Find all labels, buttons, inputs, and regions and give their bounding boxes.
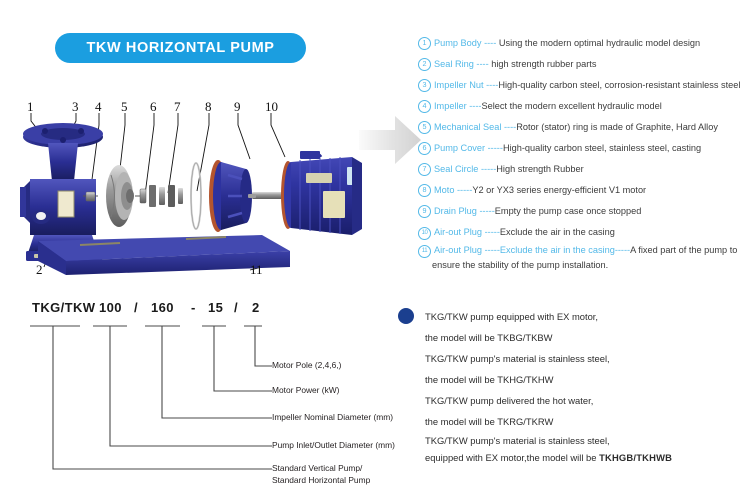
legend-term: Impeller <box>434 101 467 111</box>
note-line: TKG/TKW pump delivered the hot water, <box>425 390 756 411</box>
legend-term: Seal Ring <box>434 59 474 69</box>
legend-desc: A fixed part of the pump to <box>630 245 737 255</box>
note-final-prefix: equipped with EX motor,the model will be <box>425 452 599 463</box>
legend-number-icon: 11 <box>418 245 431 258</box>
legend-item-3: 3Impeller Nut ----High-quality carbon st… <box>418 75 756 96</box>
legend-item-5: 5Mechanical Seal ----Rotor (stator) ring… <box>418 117 756 138</box>
callout-3: 3 <box>72 100 79 113</box>
legend-number-icon: 10 <box>418 227 431 240</box>
legend-term-secondary: Exclude the air in the casing <box>500 245 615 255</box>
legend-item-6: 6Pump Cover -----High-quality carbon ste… <box>418 138 756 159</box>
legend-number-icon: 9 <box>418 205 431 218</box>
pump-cover-part <box>209 160 252 232</box>
legend-term: Seal Circle <box>434 164 478 174</box>
legend-number-icon: 4 <box>418 100 431 113</box>
legend-term: Air-out Plug <box>434 227 482 237</box>
legend-item-11: 11Air-out Plug -----Exclude the air in t… <box>418 243 756 275</box>
legend-item-4: 4Impeller ----Select the modern excellen… <box>418 96 756 117</box>
legend-number-icon: 5 <box>418 121 431 134</box>
legend-dash: ---- <box>486 80 498 90</box>
callout-6: 6 <box>150 100 157 113</box>
page-title: TKW HORIZONTAL PUMP <box>86 40 274 56</box>
legend-desc: High-quality carbon steel, stainless ste… <box>503 143 701 153</box>
legend-item-2: 2Seal Ring ---- high strength rubber par… <box>418 54 756 75</box>
impeller-part <box>106 165 134 227</box>
legend-item-10: 10Air-out Plug -----Exclude the air in t… <box>418 222 756 243</box>
exploded-pump-diagram: 1 3 4 5 6 7 8 9 10 2 11 <box>0 95 380 290</box>
note-line: TKG/TKW pump equipped with EX motor, <box>425 306 756 327</box>
callout-11: 11 <box>250 263 263 276</box>
title-banner: TKW HORIZONTAL PUMP <box>55 33 306 63</box>
legend-desc: Select the modern excellent hydraulic mo… <box>482 101 662 111</box>
legend-desc: Empty the pump case once stopped <box>495 206 642 216</box>
callout-7: 7 <box>174 100 181 113</box>
legend-desc: Exclude the air in the casing <box>500 227 615 237</box>
legend-desc: High-quality carbon steel, corrosion-res… <box>498 80 740 90</box>
legend-desc: Y2 or YX3 series energy-efficient V1 mot… <box>472 185 646 195</box>
legend-item-1: 1Pump Body ---- Using the modern optimal… <box>418 33 756 54</box>
callout-5: 5 <box>121 100 128 113</box>
legend-term: Air-out Plug <box>434 245 482 255</box>
legend-term: Mechanical Seal <box>434 122 501 132</box>
legend-dash: ----- <box>485 245 500 255</box>
legend-term: Pump Body <box>434 38 482 48</box>
label-impeller-dia: Impeller Nominal Diameter (mm) <box>272 412 393 424</box>
bullet-dot-icon <box>398 308 414 324</box>
note-line-final: equipped with EX motor,the model will be… <box>425 449 756 466</box>
label-standard-vert: Standard Vertical Pump/ <box>272 463 362 475</box>
legend-desc: high strength rubber parts <box>491 59 596 69</box>
callout-2: 2 <box>36 263 43 276</box>
note-line: the model will be TKHG/TKHW <box>425 369 756 390</box>
legend-item-8: 8Moto -----Y2 or YX3 series energy-effic… <box>418 180 756 201</box>
legend-number-icon: 2 <box>418 58 431 71</box>
legend-item-9: 9Drain Plug -----Empty the pump case onc… <box>418 201 756 222</box>
legend-desc: Rotor (stator) ring is made of Graphite,… <box>516 122 718 132</box>
legend-desc: Using the modern optimal hydraulic model… <box>499 38 700 48</box>
legend-dash: ---- <box>504 122 516 132</box>
legend-dash: ----- <box>481 164 496 174</box>
notes-lines: TKG/TKW pump equipped with EX motor, the… <box>425 306 756 466</box>
note-line: TKG/TKW pump's material is stainless ste… <box>425 348 756 369</box>
note-line: the model will be TKBG/TKBW <box>425 327 756 348</box>
legend-desc-line2: ensure the stability of the pump install… <box>418 258 756 273</box>
motor-part <box>248 151 362 235</box>
legend-term: Impeller Nut <box>434 80 484 90</box>
right-arrow-icon <box>357 112 423 168</box>
legend-item-7: 7Seal Circle -----High strength Rubber <box>418 159 756 180</box>
callout-9: 9 <box>234 100 241 113</box>
legend-desc: High strength Rubber <box>496 164 583 174</box>
legend-dash: ----- <box>488 143 503 153</box>
legend-dash: ----- <box>457 185 472 195</box>
note-line: the model will be TKRG/TKRW <box>425 411 756 432</box>
legend-dash: ---- <box>469 101 481 111</box>
legend-number-icon: 1 <box>418 37 431 50</box>
legend-term: Drain Plug <box>434 206 477 216</box>
label-motor-pole: Motor Pole (2,4,6,) <box>272 360 341 372</box>
legend-number-icon: 3 <box>418 79 431 92</box>
model-designation-diagram: TKG/TKW 100 / 160 - 15 / 2 <box>14 300 392 495</box>
label-standard-horiz: Standard Horizontal Pump <box>272 475 370 487</box>
callout-1: 1 <box>27 100 34 113</box>
seal-circle-part <box>191 163 201 229</box>
note-line: TKG/TKW pump's material is stainless ste… <box>425 432 756 449</box>
legend-number-icon: 7 <box>418 163 431 176</box>
note-final-model: TKHGB/TKHWB <box>599 452 672 463</box>
legend-dash: ----- <box>485 227 500 237</box>
legend-number-icon: 8 <box>418 184 431 197</box>
legend-dash: ---- <box>484 38 496 48</box>
mechanical-seal-part <box>135 185 183 207</box>
legend-dash: ---- <box>476 59 488 69</box>
legend-dash: ----- <box>479 206 494 216</box>
callout-4: 4 <box>95 100 102 113</box>
callout-8: 8 <box>205 100 212 113</box>
pump-datasheet-page: TKW HORIZONTAL PUMP <box>0 0 756 500</box>
pump-illustration <box>0 95 380 290</box>
legend-term: Pump Cover <box>434 143 485 153</box>
label-motor-power: Motor Power (kW) <box>272 385 339 397</box>
callout-10: 10 <box>265 100 278 113</box>
parts-legend-list: 1Pump Body ---- Using the modern optimal… <box>418 33 756 275</box>
legend-dash-secondary: ----- <box>615 245 630 255</box>
label-inlet-outlet: Pump Inlet/Outlet Diameter (mm) <box>272 440 395 452</box>
legend-term: Moto <box>434 185 454 195</box>
legend-number-icon: 6 <box>418 142 431 155</box>
